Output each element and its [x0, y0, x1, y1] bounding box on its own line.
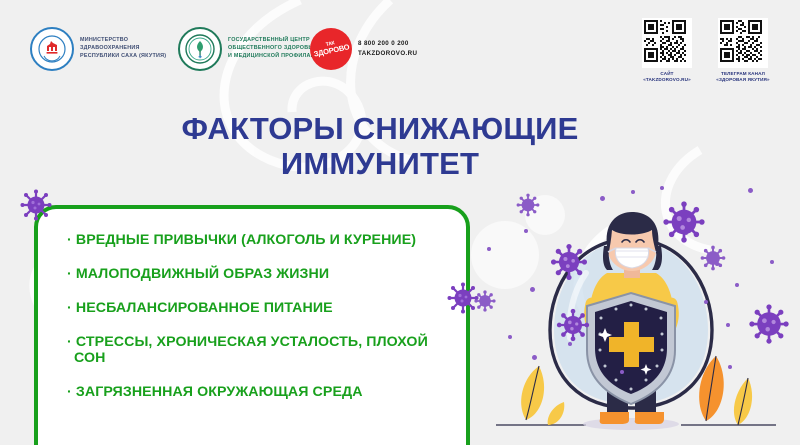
- infographic-poster: МИНИСТЕРСТВО ЗДРАВООХРАНЕНИЯ РЕСПУБЛИКИ …: [0, 0, 800, 445]
- leaf-decoration-left: [521, 366, 564, 425]
- list-item: · ВРЕДНЫЕ ПРИВЫЧКИ (АЛКОГОЛЬ И КУРЕНИЕ): [74, 232, 449, 248]
- qr-code-site[interactable]: САЙТ «TAKZDOROVO.RU»: [636, 18, 698, 83]
- list-item: · НЕСБАЛАНСИРОВАННОЕ ПИТАНИЕ: [74, 300, 449, 316]
- horse-emblem-icon: [30, 27, 74, 71]
- list-item: · МАЛОПОДВИЖНЫЙ ОБРАЗ ЖИЗНИ: [74, 266, 449, 282]
- leaf-decoration-right: [699, 356, 752, 425]
- virus-icon-6: [748, 303, 790, 345]
- page-title-line2: ИММУНИТЕТ: [0, 147, 760, 182]
- qr-telegram-image: [718, 18, 768, 68]
- virus-icon-5: [700, 245, 726, 271]
- qr-telegram-caption: ТЕЛЕГРАМ КАНАЛ «ЗДОРОВАЯ ЯКУТИЯ»: [716, 71, 769, 83]
- logo-ministry-line1: МИНИСТЕРСТВО: [80, 37, 166, 45]
- logo-ministry-line2: ЗДРАВООХРАНЕНИЯ: [80, 45, 166, 53]
- particle-dot: [620, 370, 624, 374]
- qr-site-caption: САЙТ «TAKZDOROVO.RU»: [643, 71, 691, 83]
- logo-ministry-label: МИНИСТЕРСТВО ЗДРАВООХРАНЕНИЯ РЕСПУБЛИКИ …: [80, 37, 166, 60]
- takzdorovo-badge-text: ТАК ЗДОРОВО: [312, 39, 350, 59]
- particle-dot: [704, 300, 708, 304]
- logo-public-health-center: ГОСУДАРСТВЕННЫЙ ЦЕНТР ОБЩЕСТВЕННОГО ЗДОР…: [178, 27, 330, 71]
- virus-icon-1: [516, 193, 540, 217]
- logo-ministry-of-health: МИНИСТЕРСТВО ЗДРАВООХРАНЕНИЯ РЕСПУБЛИКИ …: [30, 27, 166, 71]
- virus-icon-box-topleft: [20, 189, 52, 221]
- virus-icon-4: [662, 200, 706, 244]
- logo-takzdorovo-hotline[interactable]: ТАК ЗДОРОВО 8 800 200 0 200 TAKZDOROVO.R…: [310, 28, 417, 70]
- particle-dot: [728, 365, 732, 369]
- page-title-line1: ФАКТОРЫ СНИЖАЮЩИЕ: [0, 112, 760, 147]
- particle-dot: [568, 342, 572, 346]
- hotline-contact-text: 8 800 200 0 200 TAKZDOROVO.RU: [358, 39, 417, 59]
- particle-dot: [487, 247, 491, 251]
- particle-dot: [508, 335, 512, 339]
- virus-icon-2: [550, 243, 588, 281]
- facts-list: · ВРЕДНЫЕ ПРИВЫЧКИ (АЛКОГОЛЬ И КУРЕНИЕ) …: [74, 232, 449, 400]
- qr-site-image: [642, 18, 692, 68]
- hotline-site: TAKZDOROVO.RU: [358, 49, 417, 59]
- medical-tree-emblem-icon: [178, 27, 222, 71]
- particle-dot: [600, 196, 605, 201]
- particle-dot: [631, 190, 635, 194]
- particle-dot: [530, 287, 535, 292]
- hotline-phone: 8 800 200 0 200: [358, 39, 417, 49]
- particle-dot: [726, 323, 730, 327]
- qr-telegram-caption-line2: «ЗДОРОВАЯ ЯКУТИЯ»: [716, 77, 769, 83]
- particle-dot: [770, 260, 774, 264]
- particle-dot: [532, 355, 537, 360]
- qr-site-caption-line2: «TAKZDOROVO.RU»: [643, 77, 691, 83]
- particle-dot: [660, 186, 664, 190]
- page-title: ФАКТОРЫ СНИЖАЮЩИЕ ИММУНИТЕТ: [0, 112, 760, 181]
- particle-dot: [735, 283, 739, 287]
- logo-ministry-line3: РЕСПУБЛИКИ САХА (ЯКУТИЯ): [80, 53, 166, 61]
- takzdorovo-badge-icon: ТАК ЗДОРОВО: [310, 28, 352, 70]
- virus-icon-3: [556, 308, 590, 342]
- qr-code-group: САЙТ «TAKZDOROVO.RU»: [636, 18, 774, 83]
- particle-dot: [524, 229, 528, 233]
- list-item: · СТРЕССЫ, ХРОНИЧЕСКАЯ УСТАЛОСТЬ, ПЛОХОЙ…: [74, 334, 449, 366]
- particle-dot: [748, 188, 753, 193]
- list-item: · ЗАГРЯЗНЕННАЯ ОКРУЖАЮЩАЯ СРЕДА: [74, 384, 449, 400]
- qr-code-telegram[interactable]: ТЕЛЕГРАМ КАНАЛ «ЗДОРОВАЯ ЯКУТИЯ»: [712, 18, 774, 83]
- virus-icon-7: [474, 290, 496, 312]
